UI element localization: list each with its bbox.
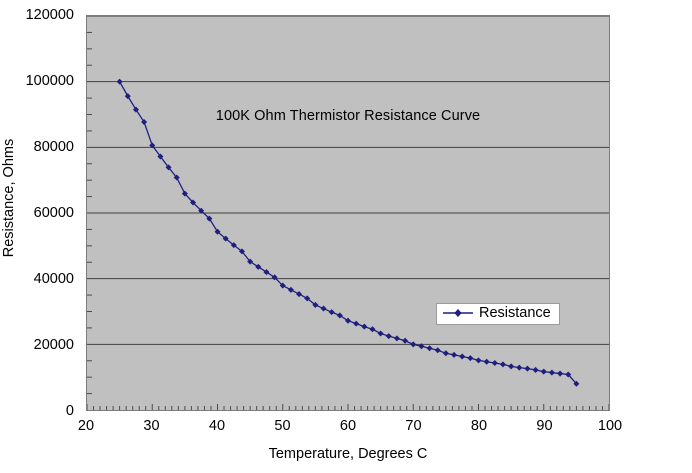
plot-area [86, 15, 610, 411]
series-marker [533, 367, 538, 372]
x-axis-tick-labels: 2030405060708090100 [0, 418, 692, 440]
series-marker [525, 366, 530, 371]
y-tick-label: 40000 [34, 271, 74, 287]
series-marker [386, 334, 391, 339]
chart-legend[interactable]: Resistance [436, 303, 560, 325]
thermistor-resistance-chart: 020000400006000080000100000120000 Resist… [0, 0, 692, 473]
series-marker [549, 370, 554, 375]
series-marker [500, 362, 505, 367]
y-tick-label: 20000 [34, 337, 74, 353]
series-marker [557, 371, 562, 376]
series-marker [329, 310, 334, 315]
x-tick-label: 50 [274, 418, 290, 434]
series-marker [435, 348, 440, 353]
series-line-0 [120, 82, 577, 384]
y-tick-label: 120000 [26, 7, 74, 23]
series-marker [492, 360, 497, 365]
x-tick-label: 80 [471, 418, 487, 434]
x-tick-label: 20 [78, 418, 94, 434]
series-marker [460, 354, 465, 359]
x-tick-label: 100 [598, 418, 622, 434]
legend-series-marker-icon [443, 307, 473, 319]
x-tick-label: 40 [209, 418, 225, 434]
y-tick-label: 80000 [34, 139, 74, 155]
legend-label-resistance: Resistance [479, 306, 551, 321]
series-marker [394, 336, 399, 341]
series-marker [403, 338, 408, 343]
series-marker [468, 356, 473, 361]
series-marker [509, 364, 514, 369]
y-tick-label: 100000 [26, 73, 74, 89]
x-tick-label: 70 [405, 418, 421, 434]
series-marker [541, 369, 546, 374]
series-marker [378, 331, 383, 336]
series-marker [517, 365, 522, 370]
series-marker [296, 292, 301, 297]
series-marker [354, 321, 359, 326]
series-marker [321, 306, 326, 311]
y-tick-label: 60000 [34, 205, 74, 221]
series-marker [476, 358, 481, 363]
x-tick-label: 90 [536, 418, 552, 434]
series-marker [370, 327, 375, 332]
series-marker [484, 359, 489, 364]
y-tick-label: 0 [66, 403, 74, 419]
series-marker [443, 351, 448, 356]
plot-canvas [87, 16, 609, 410]
series-marker [117, 79, 122, 84]
legend-diamond [455, 310, 461, 317]
series-marker [427, 346, 432, 351]
series-marker [362, 324, 367, 329]
chart-title: 100K Ohm Thermistor Resistance Curve [86, 108, 610, 124]
x-axis-title: Temperature, Degrees C [86, 446, 610, 462]
series-marker [451, 352, 456, 357]
series-marker [411, 342, 416, 347]
y-axis-title: Resistance, Ohms [1, 128, 17, 268]
x-tick-label: 60 [340, 418, 356, 434]
series-marker [288, 287, 293, 292]
x-tick-label: 30 [143, 418, 159, 434]
